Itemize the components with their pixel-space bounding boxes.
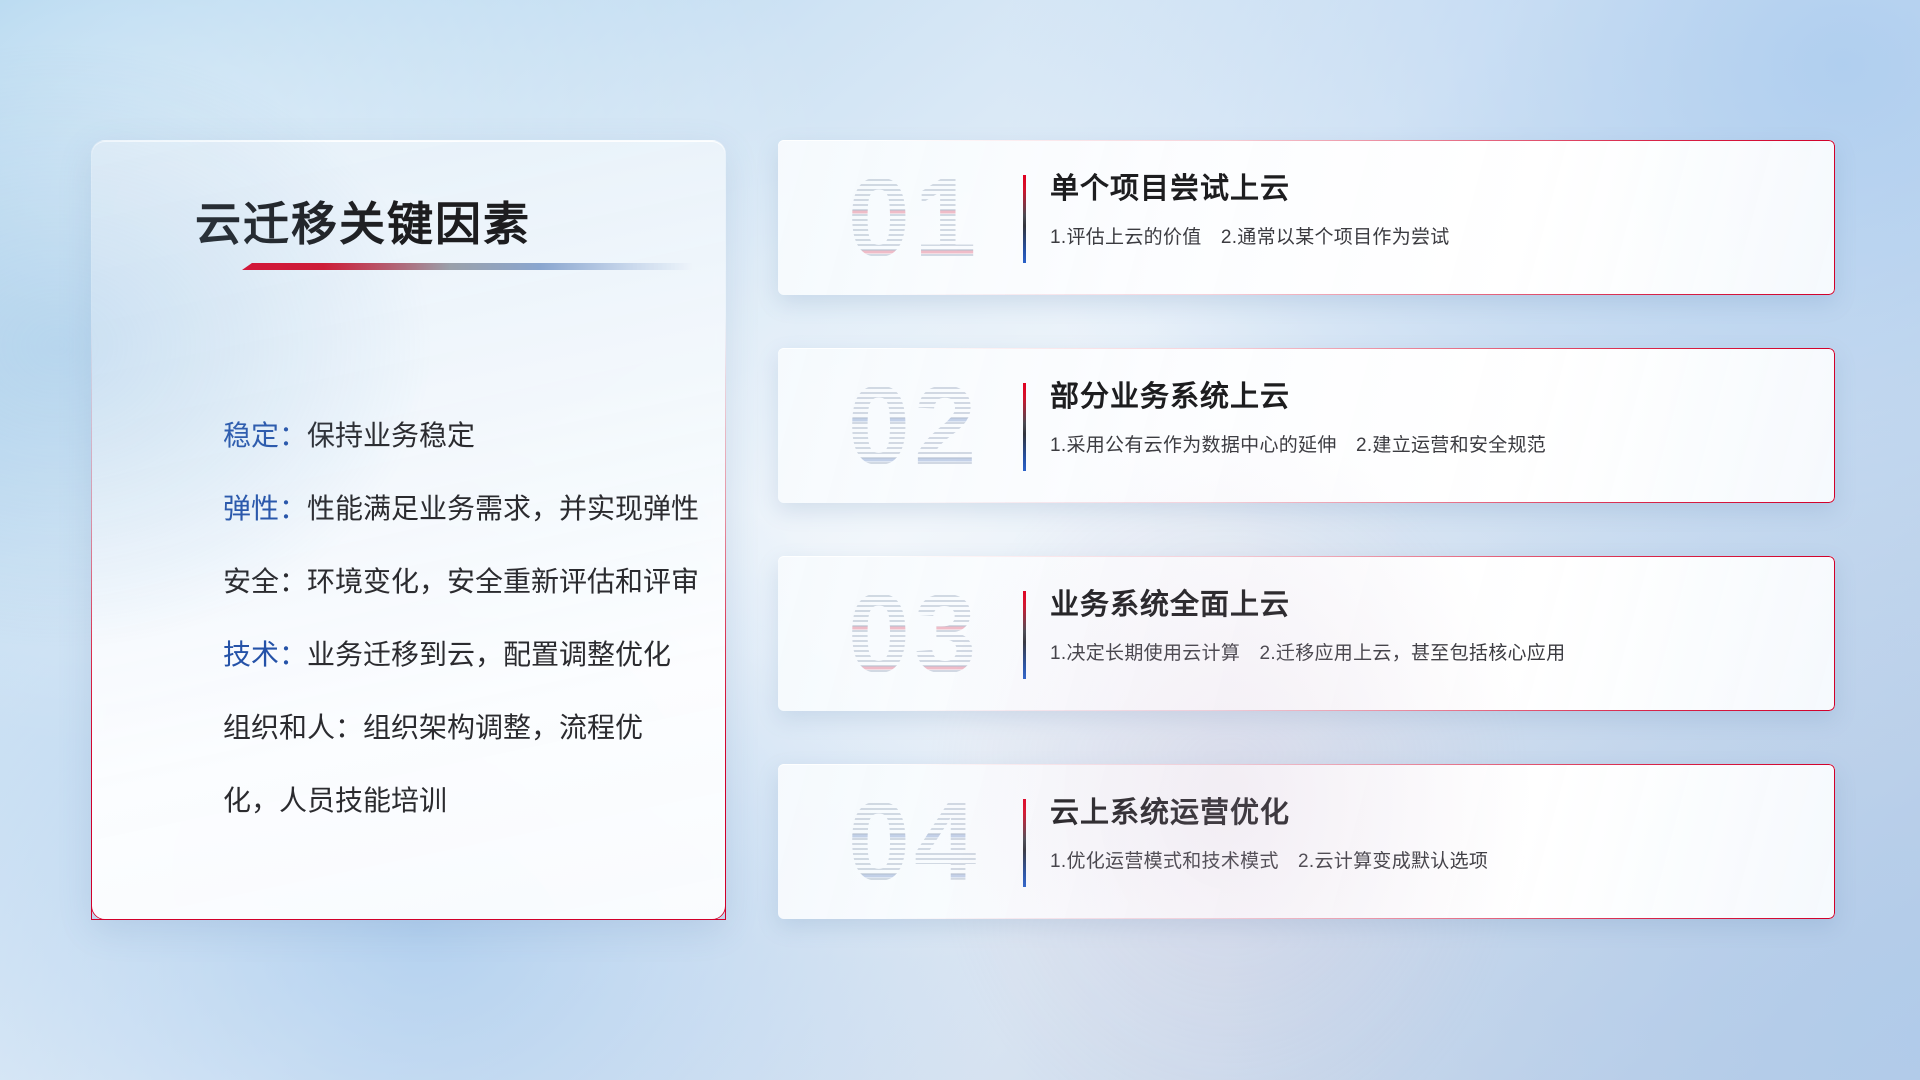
list-item: 弹性：性能满足业务需求，并实现弹性	[223, 472, 693, 545]
stage-title: 单个项目尝试上云	[1050, 168, 1811, 210]
factor-label: 安全：	[223, 566, 307, 597]
stage-body: 云上系统运营优化 1.优化运营模式和技术模式 2.云计算变成默认选项	[1050, 792, 1811, 873]
stage-divider-line	[1023, 383, 1026, 471]
factor-label: 稳定：	[223, 420, 307, 451]
stage-number-blue-tint: 02	[804, 362, 1024, 490]
stage-card-01[interactable]: 01 01 单个项目尝试上云 1.评估上云的价值 2.通常以某个项目作为尝试	[778, 140, 1835, 295]
stage-body: 业务系统全面上云 1.决定长期使用云计算 2.迁移应用上云，甚至包括核心应用	[1050, 584, 1811, 665]
page-title: 云迁移关键因素	[195, 188, 531, 254]
stage-description: 1.评估上云的价值 2.通常以某个项目作为尝试	[1050, 222, 1811, 249]
list-item: 稳定：保持业务稳定	[223, 399, 693, 472]
stage-divider-line	[1023, 591, 1026, 679]
factor-label: 弹性：	[223, 493, 307, 524]
stage-body: 单个项目尝试上云 1.评估上云的价值 2.通常以某个项目作为尝试	[1050, 168, 1811, 249]
stage-number-red-tint: 01	[804, 154, 1024, 282]
key-factors-list: 稳定：保持业务稳定 弹性：性能满足业务需求，并实现弹性 安全：环境变化，安全重新…	[223, 399, 693, 837]
factor-text: 性能满足业务需求，并实现弹性	[307, 493, 699, 524]
stage-body: 部分业务系统上云 1.采用公有云作为数据中心的延伸 2.建立运营和安全规范	[1050, 376, 1811, 457]
stage-description: 1.优化运营模式和技术模式 2.云计算变成默认选项	[1050, 846, 1811, 873]
key-factors-panel: 云迁移关键因素 稳定：保持业务稳定 弹性：性能满足业务需求，并实现弹性 安全：环…	[91, 140, 726, 920]
stage-title: 业务系统全面上云	[1050, 584, 1811, 626]
stage-description: 1.采用公有云作为数据中心的延伸 2.建立运营和安全规范	[1050, 430, 1811, 457]
title-underline-rule	[242, 263, 694, 270]
factor-label: 技术：	[223, 639, 307, 670]
stage-number-red-tint: 03	[804, 570, 1024, 698]
factor-text: 环境变化，安全重新评估和评审	[307, 566, 699, 597]
list-item: 技术：业务迁移到云，配置调整优化	[223, 618, 693, 691]
stage-title: 云上系统运营优化	[1050, 792, 1811, 834]
factor-text: 保持业务稳定	[307, 420, 475, 451]
stage-description: 1.决定长期使用云计算 2.迁移应用上云，甚至包括核心应用	[1050, 638, 1811, 665]
slide-canvas: 云迁移关键因素 稳定：保持业务稳定 弹性：性能满足业务需求，并实现弹性 安全：环…	[0, 0, 1920, 1080]
stage-divider-line	[1023, 175, 1026, 263]
stage-card-02[interactable]: 02 02 部分业务系统上云 1.采用公有云作为数据中心的延伸 2.建立运营和安…	[778, 348, 1835, 503]
list-item: 安全：环境变化，安全重新评估和评审	[223, 545, 693, 618]
stage-card-03[interactable]: 03 03 业务系统全面上云 1.决定长期使用云计算 2.迁移应用上云，甚至包括…	[778, 556, 1835, 711]
stage-title: 部分业务系统上云	[1050, 376, 1811, 418]
stage-divider-line	[1023, 799, 1026, 887]
factor-label: 组织和人：	[223, 712, 363, 743]
list-item: 组织和人：组织架构调整，流程优化，人员技能培训	[223, 691, 693, 837]
stage-number-blue-tint: 04	[804, 778, 1024, 906]
factor-text: 业务迁移到云，配置调整优化	[307, 639, 671, 670]
stage-card-04[interactable]: 04 04 云上系统运营优化 1.优化运营模式和技术模式 2.云计算变成默认选项	[778, 764, 1835, 919]
